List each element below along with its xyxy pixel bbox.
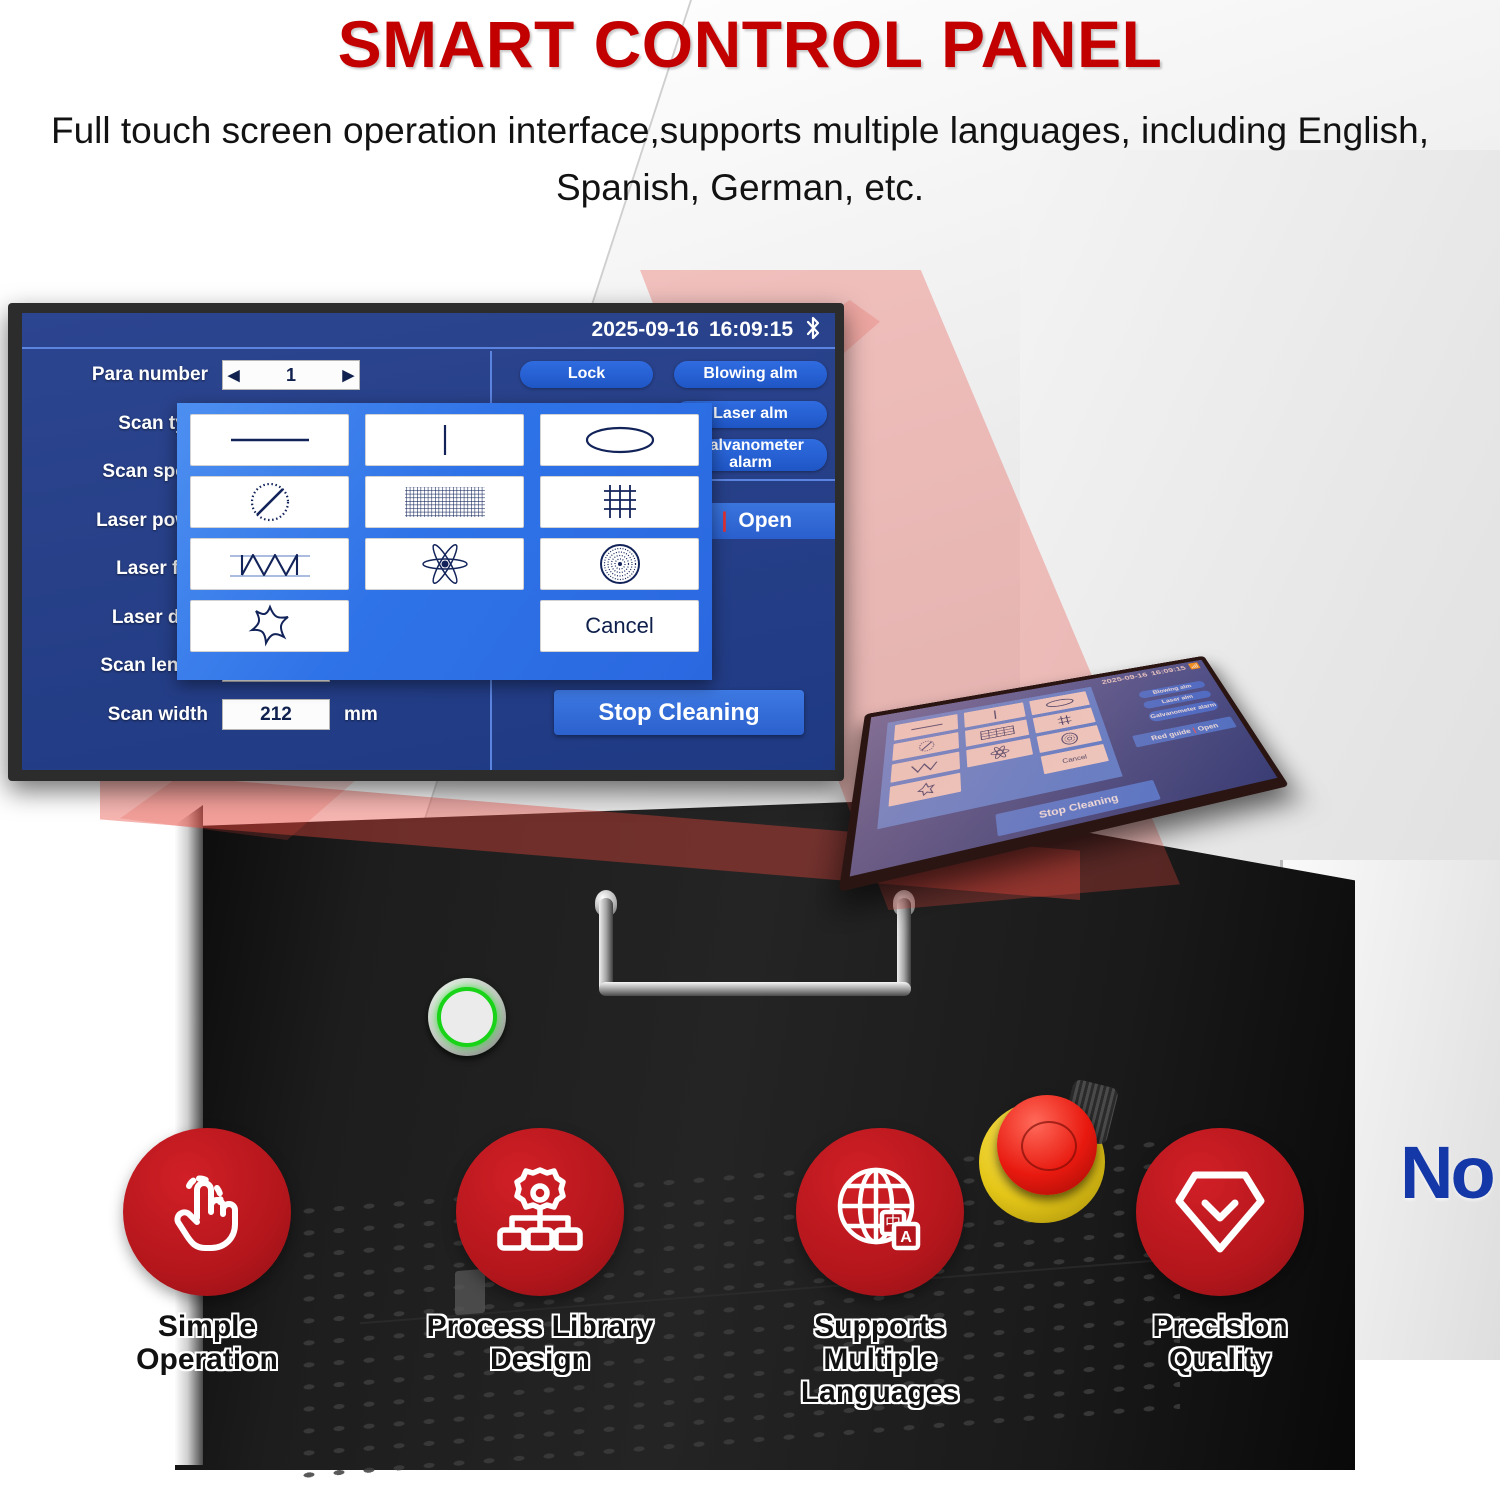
ellipse-pattern-icon[interactable] xyxy=(540,414,699,466)
feature-icon-circle xyxy=(123,1128,291,1296)
lock-button[interactable]: Lock xyxy=(520,361,653,388)
machine-power-button[interactable] xyxy=(428,978,506,1056)
bluetooth-icon xyxy=(803,316,823,345)
feature-icon-circle xyxy=(1136,1128,1304,1296)
para-number-spinner[interactable]: ◀ 1 ▶ xyxy=(222,360,360,390)
feature-simple-operation: Simple Operation xyxy=(92,1128,322,1376)
diamond-check-icon xyxy=(1171,1161,1269,1264)
status-time: 16:09:15 xyxy=(709,318,793,342)
param-label: Para number xyxy=(22,364,222,386)
handle-bar xyxy=(599,982,911,996)
page-title: SMART CONTROL PANEL xyxy=(0,6,1500,82)
param-label: Scan width xyxy=(22,704,222,726)
feature-caption: Precision Quality xyxy=(1105,1310,1335,1376)
cancel-button[interactable]: Cancel xyxy=(540,600,699,652)
flower-petal-pattern-icon[interactable] xyxy=(365,538,524,590)
status-bar: 2025-09-16 16:09:15 xyxy=(22,313,835,349)
touchscreen-screen: 2025-09-16 16:09:15 Para number ◀ 1 ▶ xyxy=(22,313,835,770)
six-point-star-pattern-icon[interactable] xyxy=(190,600,349,652)
pattern-grid-spacer xyxy=(365,600,524,652)
red-guide-separator: | xyxy=(721,509,727,533)
coarse-grid-pattern-icon[interactable] xyxy=(540,476,699,528)
process-library-icon xyxy=(490,1160,590,1265)
feature-icon-circle xyxy=(456,1128,624,1296)
vertical-line-pattern-icon[interactable] xyxy=(365,414,524,466)
machine-door-handle xyxy=(585,890,925,1025)
scan-width-value[interactable]: 212 xyxy=(222,699,330,730)
device-status-date: 2025-09-16 xyxy=(1100,671,1148,685)
param-row-para-number: Para number ◀ 1 ▶ xyxy=(22,351,490,400)
spinner-value: 1 xyxy=(240,365,343,386)
svg-text:A: A xyxy=(900,1229,912,1246)
device-red-guide-state: Open xyxy=(1196,722,1220,732)
feature-caption: Simple Operation xyxy=(92,1310,322,1376)
scan-pattern-grid: Cancel xyxy=(190,414,699,652)
handle-post-left xyxy=(599,898,613,994)
control-panel-screenshot: 2025-09-16 16:09:15 Para number ◀ 1 ▶ xyxy=(8,303,844,781)
spinner-decrement-icon[interactable]: ◀ xyxy=(228,368,240,383)
device-red-guide-label: Red guide xyxy=(1150,727,1192,741)
device-status-time: 16:09:15 xyxy=(1150,665,1188,677)
param-row-scan-width: Scan width 212 mm xyxy=(22,691,490,740)
status-date: 2025-09-16 xyxy=(592,318,699,342)
feature-multiple-languages: 中 A Supports Multiple Languages xyxy=(765,1128,995,1409)
spinner-increment-icon[interactable]: ▶ xyxy=(342,368,354,383)
handle-post-right xyxy=(897,898,911,994)
dotted-circle-diagonal-pattern-icon[interactable] xyxy=(190,476,349,528)
scan-width-unit: mm xyxy=(344,704,378,726)
feature-caption: Process Library Design xyxy=(425,1310,655,1376)
scan-pattern-dialog: Cancel xyxy=(177,403,712,680)
feature-icon-circle: 中 A xyxy=(796,1128,964,1296)
stop-cleaning-button[interactable]: Stop Cleaning xyxy=(554,690,804,735)
page-subtitle: Full touch screen operation interface,su… xyxy=(30,102,1450,217)
globe-translate-icon: 中 A xyxy=(830,1160,930,1265)
dense-mesh-pattern-icon[interactable] xyxy=(365,476,524,528)
horizontal-line-pattern-icon[interactable] xyxy=(190,414,349,466)
estop-red-cap xyxy=(997,1095,1097,1195)
feature-process-library: Process Library Design xyxy=(425,1128,655,1376)
brand-logo: No xyxy=(1400,1130,1493,1215)
feature-precision-quality: Precision Quality xyxy=(1105,1128,1335,1376)
zigzag-wave-pattern-icon[interactable] xyxy=(190,538,349,590)
concentric-spiral-pattern-icon[interactable] xyxy=(540,538,699,590)
red-guide-state: Open xyxy=(738,509,792,533)
touch-hand-icon xyxy=(159,1162,255,1263)
feature-caption: Supports Multiple Languages xyxy=(765,1310,995,1409)
emergency-stop-button[interactable] xyxy=(975,1095,1115,1225)
svg-text:中: 中 xyxy=(885,1213,901,1232)
device-bluetooth-icon: 📶 xyxy=(1187,662,1201,670)
blowing-alarm-indicator[interactable]: Blowing alm xyxy=(674,361,827,388)
device-red-guide-toggle[interactable]: Red guide | Open xyxy=(1132,716,1237,747)
